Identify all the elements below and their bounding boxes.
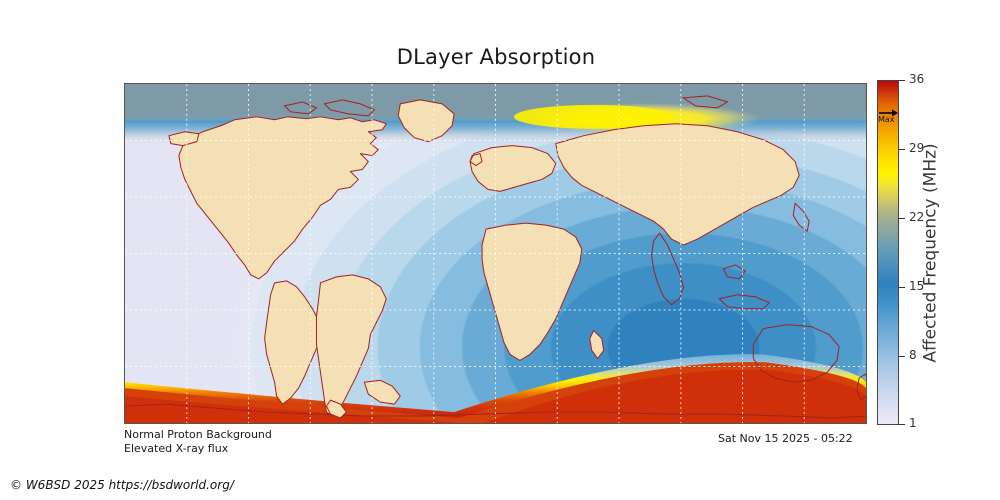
colorbar-tick-29 [899, 149, 905, 150]
colorbar-tick-22 [899, 218, 905, 219]
graticule [125, 84, 866, 423]
timestamp: Sat Nov 15 2025 - 05:22 [718, 432, 853, 445]
colorbar[interactable]: Max 36 29 22 15 8 1 [877, 80, 899, 425]
page-title: DLayer Absorption [124, 45, 868, 69]
map-axes[interactable] [124, 83, 867, 424]
xray-status: Elevated X-ray flux [124, 442, 272, 456]
colorbar-label-1: 1 [909, 416, 917, 430]
colorbar-axis-label-text: Affected Frequency (MHz) [921, 143, 941, 362]
credit-line: © W6BSD 2025 https://bsdworld.org/ [10, 478, 234, 492]
colorbar-gradient [877, 80, 899, 425]
colorbar-tick-15 [899, 287, 905, 288]
colorbar-tick-1 [899, 424, 905, 425]
colorbar-axis-label: Affected Frequency (MHz) [919, 80, 943, 425]
figure-canvas: DLayer Absorption [0, 0, 1000, 500]
colorbar-tick-36 [899, 80, 905, 81]
status-notes: Normal Proton Background Elevated X-ray … [124, 428, 272, 456]
colorbar-tick-8 [899, 356, 905, 357]
colorbar-label-8: 8 [909, 348, 917, 362]
proton-status: Normal Proton Background [124, 428, 272, 442]
